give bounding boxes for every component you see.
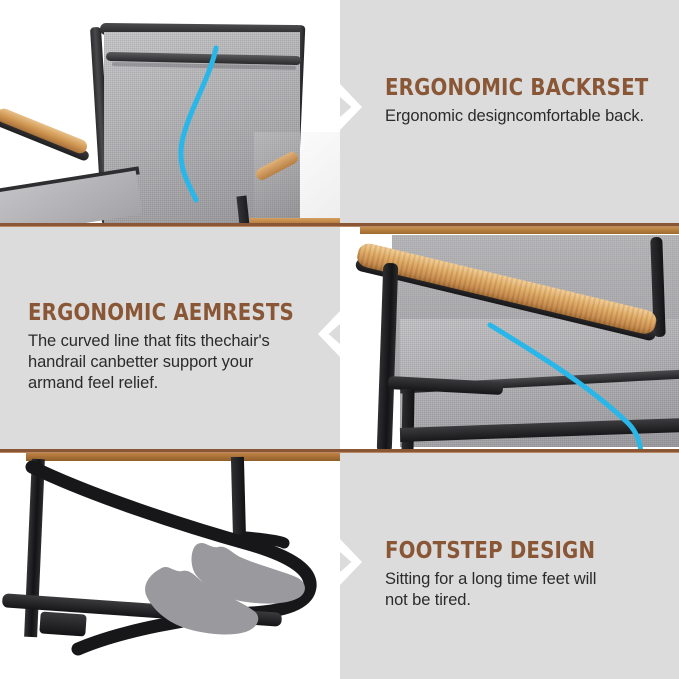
text-panel-ergonomic-backrest: ERGONOMIC BACKRSET Ergonomic designcomfo…	[340, 0, 679, 226]
body-line: Ergonomic designcomfortable back.	[385, 106, 665, 127]
section-divider	[0, 449, 679, 453]
text-panel-ergonomic-armrests: ERGONOMIC AEMRESTS The curved line that …	[0, 227, 340, 453]
panel-heading: ERGONOMIC AEMRESTS	[28, 301, 284, 325]
shoe-silhouette-icon	[0, 453, 340, 679]
ergonomic-curve-highlight-icon	[0, 0, 340, 226]
feature-panel-ergonomic-backrest: ERGONOMIC BACKRSET Ergonomic designcomfo…	[0, 0, 679, 226]
text-block: ERGONOMIC BACKRSET Ergonomic designcomfo…	[385, 76, 665, 127]
armrest-curve-highlight-icon	[340, 227, 679, 453]
panel-heading: ERGONOMIC BACKRSET	[385, 76, 626, 100]
text-panel-footstep-design: FOOTSTEP DESIGN Sitting for a long time …	[340, 453, 679, 679]
panel-body: Ergonomic designcomfortable back.	[385, 106, 665, 127]
text-block: FOOTSTEP DESIGN Sitting for a long time …	[385, 539, 665, 611]
body-line: armand feel relief.	[28, 373, 326, 394]
photo-chair-back	[0, 0, 340, 226]
photo-armrest-detail	[340, 227, 679, 453]
panel-heading: FOOTSTEP DESIGN	[385, 539, 626, 563]
body-line: not be tired.	[385, 590, 665, 611]
feature-panel-footstep-design: FOOTSTEP DESIGN Sitting for a long time …	[0, 453, 679, 679]
text-block: ERGONOMIC AEMRESTS The curved line that …	[28, 301, 326, 393]
pointer-chevron-right-icon	[340, 84, 362, 130]
body-line: The curved line that fits thechair's	[28, 331, 326, 352]
body-line: Sitting for a long time feet will	[385, 569, 665, 590]
product-feature-infographic: ERGONOMIC BACKRSET Ergonomic designcomfo…	[0, 0, 679, 679]
panel-body: Sitting for a long time feet will not be…	[385, 569, 665, 611]
feature-panel-ergonomic-armrests: ERGONOMIC AEMRESTS The curved line that …	[0, 227, 679, 453]
section-divider	[0, 223, 679, 227]
photo-footrest-detail	[0, 453, 340, 679]
pointer-chevron-right-icon	[340, 539, 362, 585]
panel-body: The curved line that fits thechair's han…	[28, 331, 326, 393]
body-line: handrail canbetter support your	[28, 352, 326, 373]
